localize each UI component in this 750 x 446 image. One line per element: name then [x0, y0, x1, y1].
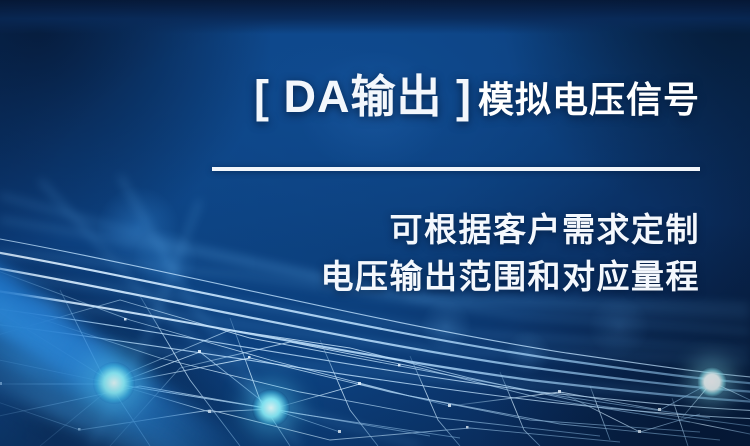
- subtitle-line-1: 可根据客户需求定制: [321, 206, 701, 253]
- title-divider-line: [212, 167, 700, 171]
- banner-content: [ DA输出 ] 模拟电压信号 可根据客户需求定制 电压输出范围和对应量程: [0, 0, 750, 446]
- da-output-banner: [ DA输出 ] 模拟电压信号 可根据客户需求定制 电压输出范围和对应量程: [0, 0, 750, 446]
- banner-subtitle: 可根据客户需求定制 电压输出范围和对应量程: [321, 206, 701, 300]
- banner-title: [ DA输出 ] 模拟电压信号: [254, 74, 700, 119]
- title-bracketed-term: [ DA输出 ]: [254, 74, 472, 119]
- subtitle-line-2: 电压输出范围和对应量程: [321, 253, 701, 300]
- title-suffix-term: 模拟电压信号: [478, 82, 700, 118]
